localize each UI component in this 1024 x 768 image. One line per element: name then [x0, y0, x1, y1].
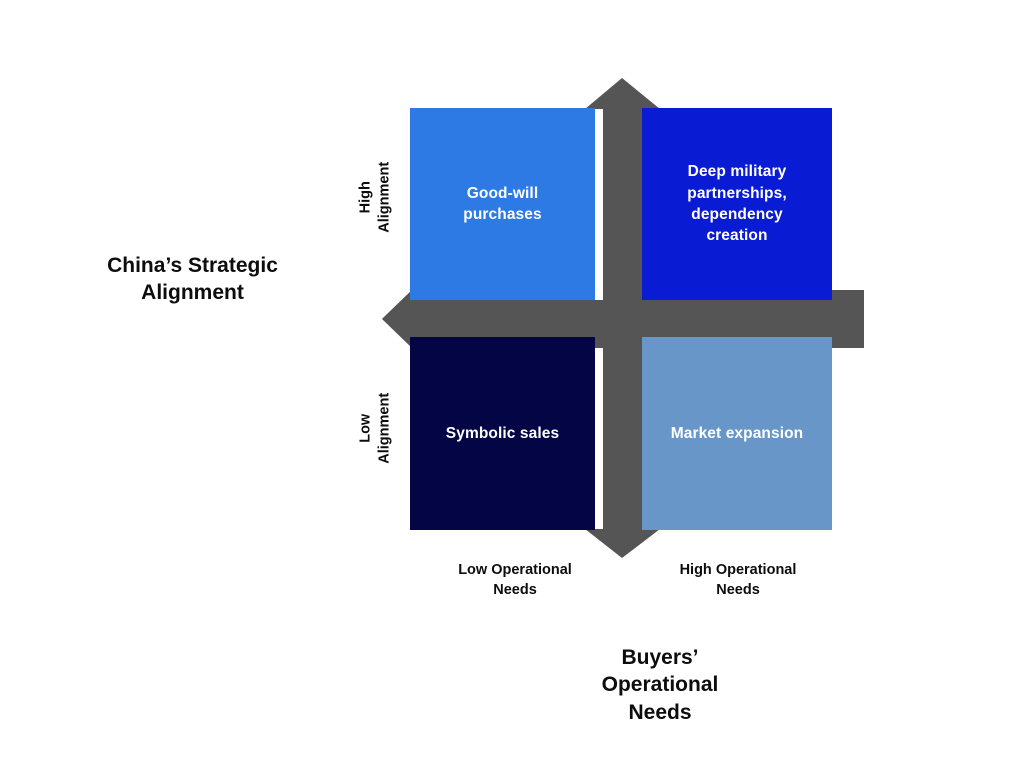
quadrant-bottom-left[interactable]: Symbolic sales — [410, 337, 595, 530]
quadrant-bottom-left-label: Symbolic sales — [446, 423, 559, 444]
horizontal-arrow-head-left — [382, 289, 413, 349]
matrix-diagram-canvas: Good-will purchases Deep military partne… — [0, 0, 1024, 768]
quadrant-top-right-label: Deep military partnerships, dependency c… — [687, 161, 787, 247]
vertical-arrow-head-down — [585, 529, 660, 558]
y-axis-label-high-alignment: High Alignment — [357, 142, 396, 252]
y-axis-title: China’s Strategic Alignment — [60, 252, 325, 307]
quadrant-top-right[interactable]: Deep military partnerships, dependency c… — [642, 108, 832, 300]
x-axis-label-high-operational-needs: High Operational Needs — [648, 561, 828, 600]
x-axis-title: Buyers’ Operational Needs — [560, 644, 760, 726]
quadrant-bottom-right[interactable]: Market expansion — [642, 337, 832, 530]
y-axis-label-low-alignment: Low Alignment — [357, 373, 396, 483]
x-axis-label-low-operational-needs: Low Operational Needs — [425, 561, 605, 600]
vertical-arrow-shaft — [603, 108, 642, 530]
vertical-arrow-head-up — [585, 78, 660, 109]
quadrant-bottom-right-label: Market expansion — [671, 423, 804, 444]
quadrant-top-left-label: Good-will purchases — [463, 183, 541, 226]
quadrant-top-left[interactable]: Good-will purchases — [410, 108, 595, 300]
